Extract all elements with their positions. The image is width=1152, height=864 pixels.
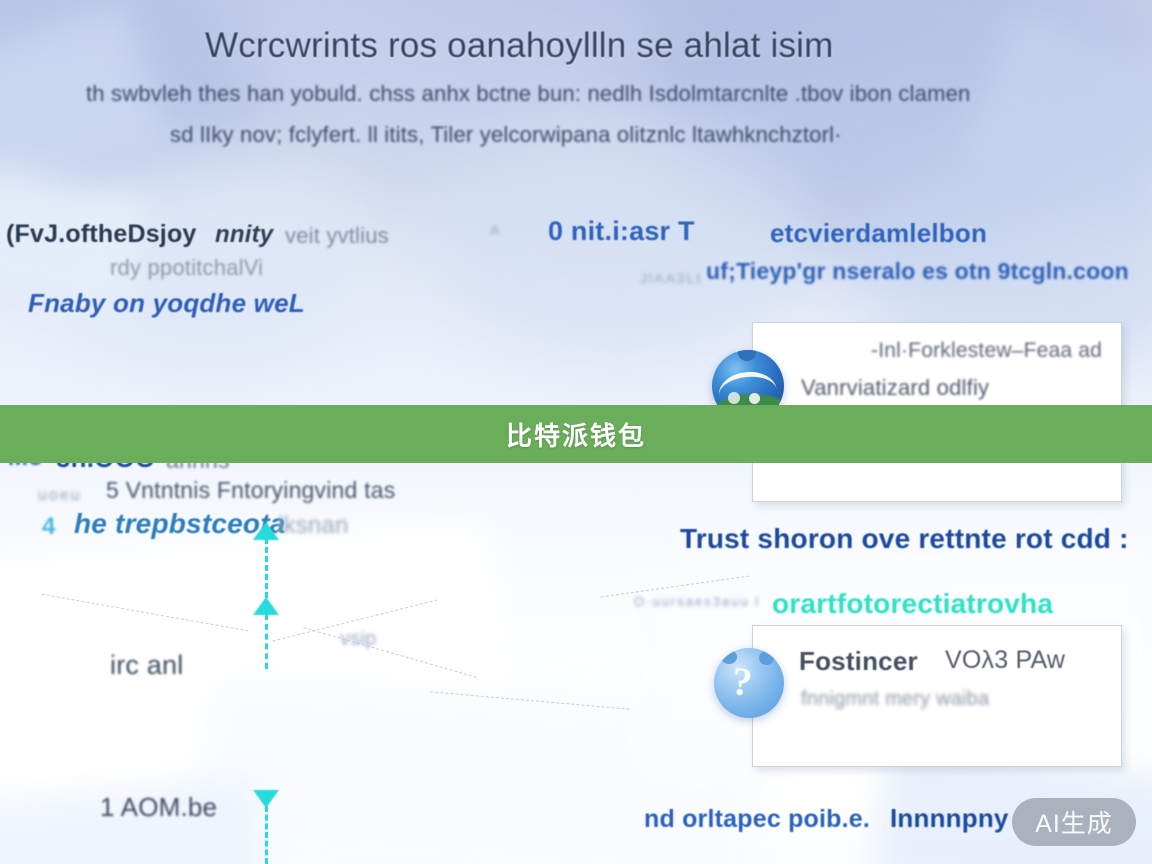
- left-row7-bullet: 4: [42, 513, 56, 541]
- bitpie-light-blue-question-logo-icon: ?: [714, 648, 784, 718]
- logo-top-dot-right: [749, 393, 760, 404]
- left-row7-tail: lksnan: [278, 512, 349, 540]
- cyan-arrowhead-lower: [253, 790, 279, 808]
- right-row1-badge: 0 nit.i:asr T: [548, 216, 695, 247]
- illustration-canvas: Wcrcwrints ros oanahoyllln se ahlat isim…: [0, 0, 1152, 864]
- page-title: Wcrcwrints ros oanahoyllln se ahlat isim: [205, 26, 833, 66]
- left-row2-text: rdy ppotitchalVi: [110, 255, 263, 281]
- left-row6-label: uoeu: [38, 487, 82, 505]
- info-card-bottom[interactable]: Fostincer VOλ3 PAw fnnigmnt mery waiba: [752, 625, 1122, 767]
- right-row5-part-b: Innnnpny: [890, 803, 1009, 834]
- ai-generated-watermark-badge: AI生成: [1012, 798, 1136, 846]
- connector-hairline-4: [430, 691, 629, 709]
- left-row1-part-c: veit yvtlius: [285, 223, 389, 249]
- right-row1-text: etcvierdamlelbon: [770, 218, 987, 249]
- card-top-line-1: -Inl·Forklestew–Feaa ad: [871, 339, 1102, 363]
- left-row1-part-b: nnity: [215, 221, 273, 249]
- cyan-arrowhead-mid: [253, 597, 279, 615]
- cyan-arrowhead-upper: [253, 522, 279, 540]
- card-bottom-line-1-bold: Fostincer: [799, 646, 918, 677]
- cyan-dashed-line-lower: [265, 806, 268, 864]
- left-row9-text: 1 AOM.be: [100, 792, 217, 823]
- card-bottom-line-2: fnnigmnt mery waiba: [801, 688, 989, 711]
- green-title-banner: 比特派钱包: [0, 405, 1152, 463]
- right-row1-prefix: A: [490, 222, 502, 238]
- left-row3-text: Fnaby on yoqdhe weL: [28, 288, 305, 319]
- bg-plane-lower-left: [0, 516, 508, 774]
- left-row8-text: irc anl: [110, 650, 183, 681]
- cyan-dashed-line-upper: [265, 538, 268, 598]
- logo-top-dot-left: [728, 392, 740, 404]
- right-row4-prefix: O·uursaes3auu l: [634, 594, 760, 609]
- banner-title-text: 比特派钱包: [506, 416, 646, 453]
- right-row5-part-a: nd orltapec poib.e.: [644, 805, 870, 834]
- left-row6-text: 5 Vntntnis Fntoryingvind tas: [106, 477, 395, 504]
- right-row2-prefix: JlAA3Lt: [640, 270, 702, 286]
- card-top-line-2: Vanrviatizard odlfiy: [801, 375, 989, 401]
- page-subtitle-line-1: th swbvleh thes han yobuld. chss anhx bc…: [86, 81, 970, 107]
- logo-bottom-ear-right: [759, 651, 774, 665]
- connector-hairline-1: [42, 594, 249, 631]
- left-row1-part-a: (FvJ.oftheDsjoy: [6, 220, 197, 249]
- logo-bottom-question-glyph: ?: [730, 661, 754, 703]
- ai-generated-watermark-text: AI生成: [1035, 804, 1113, 840]
- bg-shard-right-top: [957, 8, 1152, 231]
- connector-hairline-2: [303, 627, 476, 678]
- right-row2-text: uf;Tieyp'gr nseralo es otn 9tcgln.coon: [706, 258, 1129, 285]
- card-bottom-line-1-rest: VOλ3 PAw: [945, 646, 1065, 675]
- right-row3-text: Trust shoron ove rettnte rot cdd :: [680, 523, 1129, 555]
- cyan-dashed-line-mid: [265, 614, 268, 669]
- right-row4-text: orartfotorectiatrovha: [772, 588, 1053, 620]
- logo-top-ear: [738, 350, 756, 361]
- page-subtitle-line-2: sd lIky nov; fclyfert. ll itits, Tiler y…: [170, 122, 842, 148]
- bg-plane-lower-mid: [194, 671, 766, 864]
